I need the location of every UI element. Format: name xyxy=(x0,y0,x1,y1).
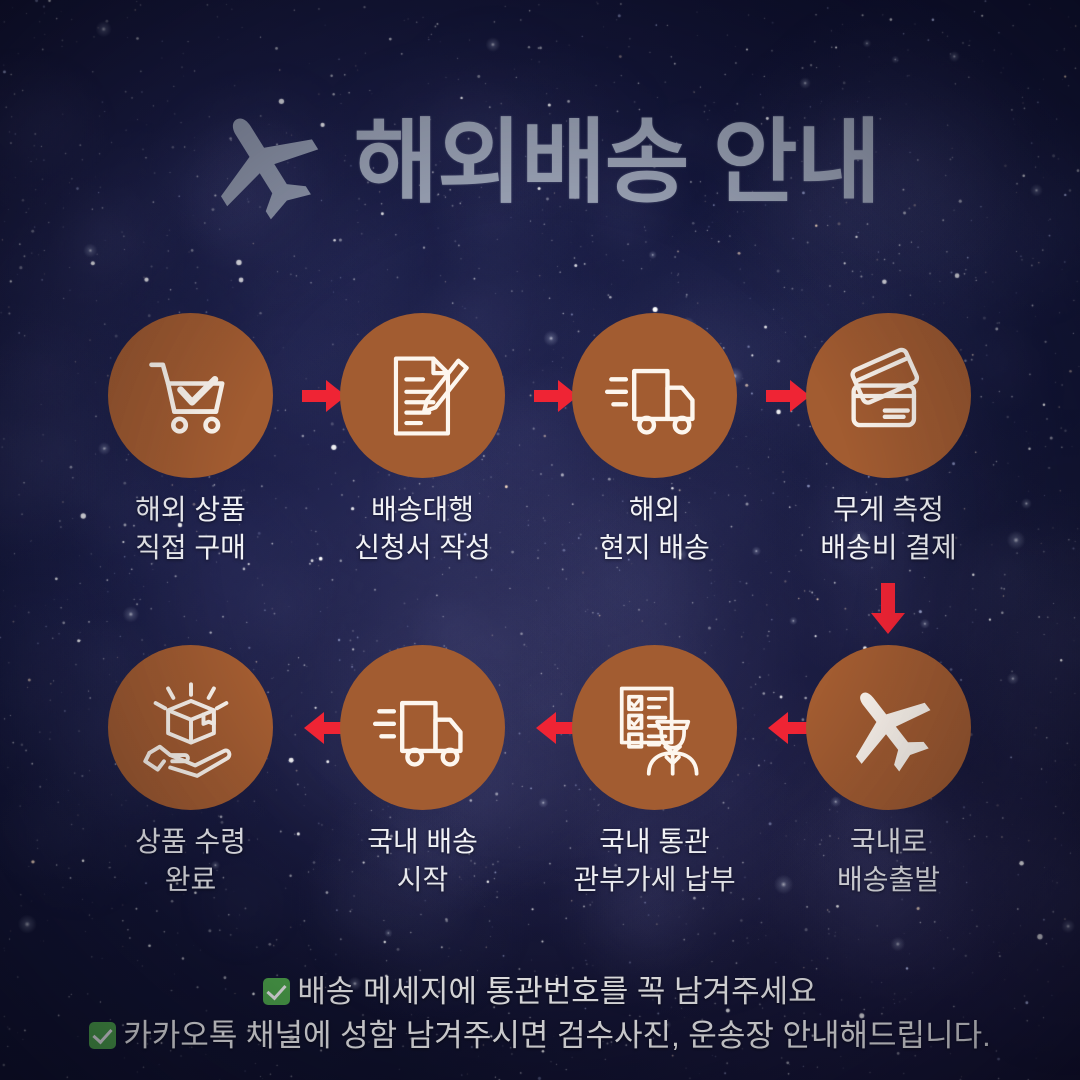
flow-step-7[interactable]: 국내 배송 시작 xyxy=(340,645,505,810)
flow-row-2: 상품 수령 완료 국내 배송 시작 xyxy=(0,645,1080,810)
page-header: 해외배송 안내 xyxy=(0,104,1080,222)
airplane-icon xyxy=(837,676,941,780)
step-bubble xyxy=(572,645,737,810)
green-check-icon xyxy=(89,1022,116,1049)
flow-step-2[interactable]: 배송대행 신청서 작성 xyxy=(340,313,505,478)
footer-notes: 배송 메세지에 통관번호를 꼭 남겨주세요 카카오톡 채널에 성함 남겨주시면 … xyxy=(0,970,1080,1058)
note-item: 카카오톡 채널에 성함 남겨주시면 검수사진, 운송장 안내해드립니다. xyxy=(0,1014,1080,1058)
page-title: 해외배송 안내 xyxy=(354,117,880,209)
customs-officer-icon xyxy=(603,676,707,780)
step-bubble xyxy=(572,313,737,478)
delivery-truck-icon xyxy=(603,344,707,448)
flow-step-4[interactable]: 무게 측정 배송비 결제 xyxy=(806,313,971,478)
flow-step-8[interactable]: 상품 수령 완료 xyxy=(108,645,273,810)
infographic-canvas: 해외배송 안내 해외 상품 직접 구매 xyxy=(0,0,1080,1080)
shopping-cart-check-icon xyxy=(139,344,243,448)
delivery-truck-icon xyxy=(371,676,475,780)
document-pen-icon xyxy=(371,344,475,448)
step-bubble xyxy=(108,645,273,810)
arrow-down-icon xyxy=(868,583,908,635)
hand-package-icon xyxy=(139,676,243,780)
step-caption: 국내로 배송출발 xyxy=(749,823,1029,899)
step-bubble xyxy=(108,313,273,478)
flow-step-3[interactable]: 해외 현지 배송 xyxy=(572,313,737,478)
flow-step-6[interactable]: 국내 통관 관부가세 납부 xyxy=(572,645,737,810)
flow-step-5[interactable]: 국내로 배송출발 xyxy=(806,645,971,810)
step-caption: 무게 측정 배송비 결제 xyxy=(749,491,1029,567)
note-item: 배송 메세지에 통관번호를 꼭 남겨주세요 xyxy=(0,970,1080,1014)
step-bubble xyxy=(340,313,505,478)
step-bubble xyxy=(806,645,971,810)
flow-step-1[interactable]: 해외 상품 직접 구매 xyxy=(108,313,273,478)
green-check-icon xyxy=(263,978,290,1005)
step-bubble xyxy=(806,313,971,478)
airplane-icon xyxy=(200,104,332,222)
step-bubble xyxy=(340,645,505,810)
credit-cards-icon xyxy=(837,344,941,448)
flow-row-1: 해외 상품 직접 구매 배송대행 신청서 작성 xyxy=(0,313,1080,478)
